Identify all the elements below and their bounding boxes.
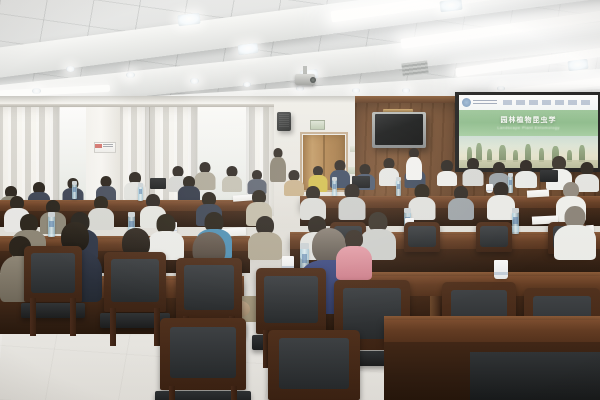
bottle-cap: [138, 183, 143, 187]
attendee: [462, 158, 483, 186]
round-downlight: [190, 78, 199, 84]
wall-sign-logo: [95, 144, 102, 148]
bottle-cap: [332, 177, 337, 181]
attendee: [554, 206, 596, 260]
round-downlight: [66, 66, 75, 72]
round-downlight: [402, 88, 410, 93]
round-downlight: [32, 88, 41, 94]
speaker-grille: [279, 114, 289, 128]
attendee: [300, 186, 326, 220]
tv-screen: [375, 114, 423, 145]
institution-name-text: [473, 100, 497, 105]
bottle-cap: [48, 212, 55, 217]
conference-room-photo: 园林植物昆虫学 Landscape Plant Entomology: [0, 0, 600, 400]
chair-foreground[interactable]: [160, 318, 246, 390]
chair-foreground[interactable]: [268, 330, 360, 400]
chair[interactable]: [404, 222, 440, 252]
attendee: [408, 184, 435, 220]
chair[interactable]: [476, 222, 512, 252]
chair[interactable]: [24, 246, 82, 302]
wall-sign-text: [103, 144, 113, 148]
bottle-cap: [128, 212, 135, 217]
slide-title-cn: 园林植物昆虫学: [459, 115, 598, 125]
laptop: [150, 178, 166, 189]
bottle-cap: [72, 181, 77, 185]
attendee: [222, 166, 242, 192]
water-bottle: [72, 184, 77, 199]
round-downlight: [497, 86, 505, 91]
round-downlight: [352, 88, 360, 93]
bottle-cap: [512, 208, 519, 213]
slide-subtitle-en: Landscape Plant Entomology: [459, 125, 598, 130]
chair[interactable]: [176, 258, 242, 320]
attendee: [448, 186, 474, 220]
institution-logo-icon: [462, 98, 471, 107]
attendee: [487, 182, 515, 220]
attendee: [437, 160, 457, 186]
round-downlight: [126, 72, 135, 78]
curtain-rod: [0, 104, 274, 107]
wall-speaker: [277, 112, 291, 131]
water-bottle: [332, 180, 337, 196]
round-downlight: [296, 86, 304, 91]
projector-lens-icon: [310, 77, 316, 83]
standing-attendee: [406, 148, 422, 180]
chair[interactable]: [256, 268, 326, 334]
paper-cup: [494, 260, 508, 279]
handout-paper: [527, 189, 549, 197]
chair-seat[interactable]: [470, 352, 600, 400]
round-downlight: [243, 82, 251, 87]
chair[interactable]: [104, 252, 166, 312]
attendee: [248, 216, 282, 260]
wall-control-panel[interactable]: [310, 120, 325, 130]
water-bottle: [396, 180, 401, 196]
slide-header-banner: [459, 95, 598, 110]
bottle-cap: [508, 173, 513, 177]
slide-header-subtext: [503, 100, 593, 105]
laptop: [540, 170, 558, 182]
attendee: [336, 230, 372, 280]
bottle-cap: [404, 208, 411, 213]
water-bottle: [512, 212, 519, 234]
bottle-cap: [396, 177, 401, 181]
attendee: [515, 160, 537, 188]
